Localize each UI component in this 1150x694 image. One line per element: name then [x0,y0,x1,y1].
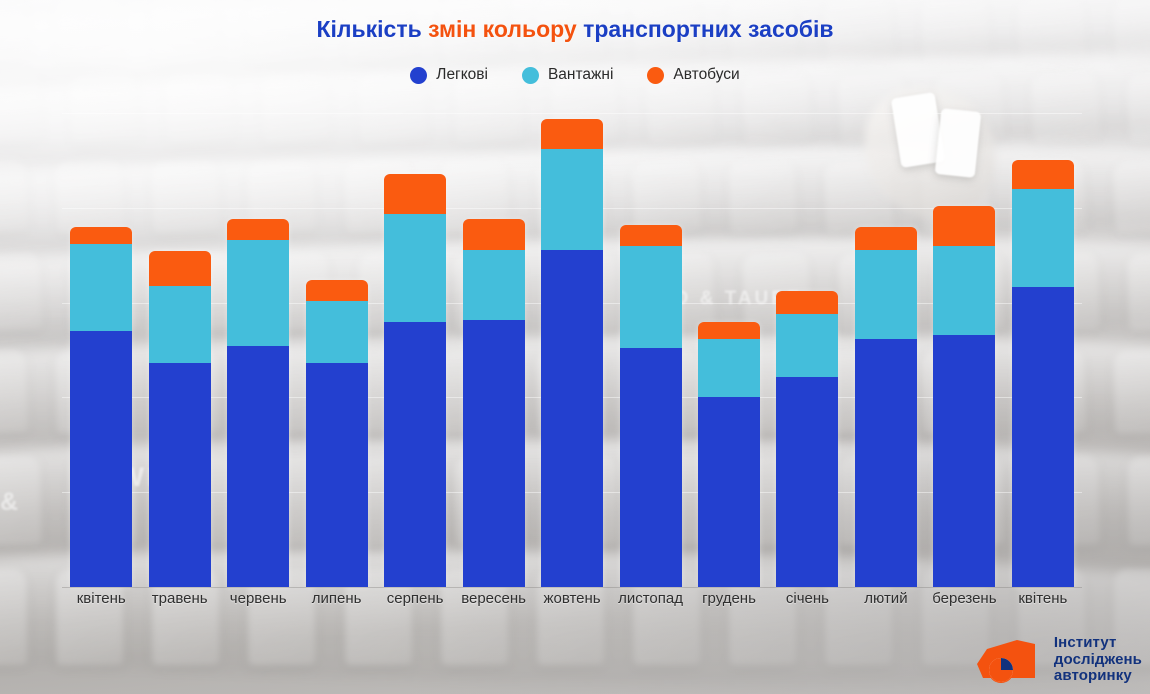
x-axis-label: серпень [376,590,454,607]
logo-text: Інститут досліджень авторинку [1054,635,1142,685]
stacked-bar[interactable] [698,322,760,587]
bar-segment-легкові [70,331,132,587]
bar-segment-вантажні [1012,189,1074,288]
x-axis-label: липень [297,590,375,607]
logo: Інститут досліджень авторинку [973,634,1142,686]
bar-segment-автобуси [933,206,995,246]
plot-area: 050100150200250 [62,113,1082,587]
x-axis-label: жовтень [533,590,611,607]
stacked-bar[interactable] [70,227,132,587]
bar-segment-автобуси [384,174,446,214]
x-axis-label: грудень [690,590,768,607]
stacked-bar[interactable] [149,251,211,587]
logo-line-1: Інститут [1054,635,1142,652]
x-axis-label: лютий [847,590,925,607]
bar-group[interactable] [690,113,768,587]
legend-swatch-icon [410,67,427,84]
stacked-bar[interactable] [227,219,289,587]
bar-series [62,113,1082,587]
legend-label: Легкові [436,66,488,84]
stacked-bar[interactable] [776,291,838,587]
bar-segment-легкові [384,322,446,587]
bar-group[interactable] [533,113,611,587]
bar-segment-легкові [933,335,995,587]
bar-segment-легкові [855,339,917,587]
logo-line-3: авторинку [1054,668,1142,685]
gridline-0 [62,587,1082,588]
bar-segment-легкові [1012,287,1074,587]
bar-segment-вантажні [463,250,525,320]
chart-title-part-3: транспортних засобів [577,16,834,42]
bar-segment-вантажні [855,250,917,339]
stacked-bar[interactable] [541,119,603,587]
chart-title: Кількість змін кольору транспортних засо… [0,16,1150,43]
stacked-bar[interactable] [855,227,917,587]
bar-segment-автобуси [776,291,838,314]
bar-segment-автобуси [306,280,368,301]
bar-group[interactable] [219,113,297,587]
legend-label: Автобуси [673,66,739,84]
bar-group[interactable] [454,113,532,587]
legend-label: Вантажні [548,66,613,84]
bar-segment-автобуси [463,219,525,249]
chart-title-part-1: Кількість [316,16,428,42]
bar-group[interactable] [297,113,375,587]
bar-group[interactable] [1004,113,1082,587]
bar-segment-вантажні [70,244,132,331]
x-axis-label: травень [140,590,218,607]
x-axis-label: березень [925,590,1003,607]
bar-segment-легкові [541,250,603,587]
bar-segment-легкові [149,363,211,587]
bar-segment-автобуси [855,227,917,250]
bar-segment-вантажні [149,286,211,364]
legend-item-0[interactable]: Легкові [410,66,488,84]
bar-segment-легкові [776,377,838,587]
bar-segment-автобуси [149,251,211,285]
stacked-bar[interactable] [384,174,446,587]
chart-legend: ЛегковіВантажніАвтобуси [0,66,1150,84]
stacked-bar[interactable] [620,225,682,587]
bar-group[interactable] [925,113,1003,587]
logo-line-2: досліджень [1054,652,1142,669]
legend-item-1[interactable]: Вантажні [522,66,613,84]
bar-group[interactable] [376,113,454,587]
logo-mark-icon [973,634,1045,686]
chart-title-part-2: змін кольору [428,16,577,42]
bar-segment-легкові [306,363,368,587]
x-axis-label: квітень [1004,590,1082,607]
bar-segment-вантажні [933,246,995,335]
bar-segment-автобуси [698,322,760,339]
x-axis-labels: квітеньтравеньчервеньлипеньсерпеньвересе… [62,590,1082,607]
bar-segment-автобуси [620,225,682,246]
stacked-bar[interactable] [306,280,368,587]
bar-group[interactable] [62,113,140,587]
background-text-3: & [0,488,21,517]
bar-segment-вантажні [541,149,603,249]
bar-segment-легкові [698,397,760,587]
bar-segment-вантажні [306,301,368,364]
x-axis-label: квітень [62,590,140,607]
bar-segment-автобуси [541,119,603,149]
bar-segment-вантажні [698,339,760,398]
bar-group[interactable] [611,113,689,587]
bar-segment-вантажні [620,246,682,348]
bar-segment-вантажні [384,214,446,322]
stacked-bar[interactable] [933,206,995,587]
bar-group[interactable] [140,113,218,587]
x-axis-label: вересень [454,590,532,607]
legend-swatch-icon [647,67,664,84]
bar-group[interactable] [847,113,925,587]
bar-segment-автобуси [70,227,132,244]
bar-group[interactable] [768,113,846,587]
stacked-bar[interactable] [463,219,525,587]
stacked-bar[interactable] [1012,160,1074,587]
legend-swatch-icon [522,67,539,84]
bar-segment-легкові [227,346,289,587]
chart-screenshot: LD & TAUPEROWN& Кількість змін кольору т… [0,0,1150,694]
x-axis-label: січень [768,590,846,607]
bar-segment-вантажні [227,240,289,346]
bar-segment-автобуси [227,219,289,240]
bar-segment-легкові [620,348,682,587]
x-axis-label: червень [219,590,297,607]
x-axis-label: листопад [611,590,689,607]
bar-segment-вантажні [776,314,838,377]
legend-item-2[interactable]: Автобуси [647,66,739,84]
bar-segment-легкові [463,320,525,587]
bar-segment-автобуси [1012,160,1074,188]
